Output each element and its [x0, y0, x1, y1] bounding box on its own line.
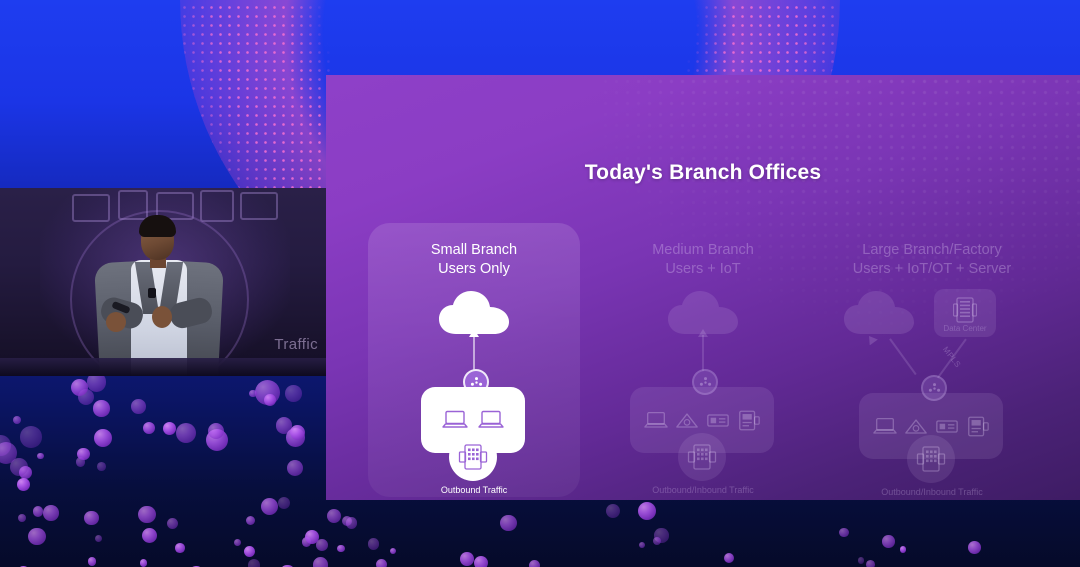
bubble: [33, 506, 44, 517]
laptop-icon: [644, 411, 668, 430]
bubble: [167, 518, 178, 529]
bubble: [97, 462, 106, 471]
uplink-line: [702, 335, 704, 371]
bubble: [900, 546, 906, 552]
bubble: [500, 515, 516, 531]
bubble: [653, 537, 662, 546]
bubble: [639, 542, 645, 548]
cloud-icon: [844, 291, 914, 335]
bubble: [287, 460, 303, 476]
bubble: [261, 498, 278, 515]
screen: Traffic Today's Branch Offices Small Bra…: [0, 0, 1080, 567]
bubble: [278, 497, 290, 509]
bubble: [28, 528, 45, 545]
branch-column-medium[interactable]: Medium Branch Users + IoT: [597, 223, 809, 497]
column-title-text: Small Branch: [431, 242, 517, 258]
bubble: [175, 543, 184, 552]
bubble: [140, 559, 148, 567]
uplink-arrow-icon: [697, 329, 709, 339]
bubble: [43, 505, 59, 521]
bubble: [264, 394, 276, 406]
bubble: [346, 517, 358, 529]
speaker-hand-left: [106, 312, 126, 332]
bubble: [37, 453, 44, 460]
bubble: [95, 535, 102, 542]
kiosk-icon: [966, 416, 990, 437]
bubble: [474, 556, 488, 567]
column-subtitle-text: Users Only: [368, 260, 580, 279]
bubble: [208, 423, 224, 439]
presenter-video[interactable]: Traffic: [0, 188, 330, 376]
bubble: [529, 560, 540, 567]
column-subtitle-text: Users + IoT: [597, 260, 809, 279]
bubble: [327, 509, 341, 523]
bubble: [176, 423, 196, 443]
speaker-hair: [139, 215, 176, 237]
camera-icon: [904, 417, 928, 436]
firewall-icon: [449, 433, 497, 481]
uplink-arrow-icon: [468, 329, 480, 339]
server-icon: [953, 297, 977, 323]
data-center-label: Data Center: [934, 324, 996, 333]
laptop-icon: [873, 417, 897, 436]
card-reader-icon: [706, 411, 730, 430]
camera-icon: [675, 411, 699, 430]
bubble: [93, 400, 109, 416]
bubble: [285, 385, 302, 402]
internet-arrow-icon: [866, 335, 878, 345]
data-center-box: Data Center: [934, 289, 996, 337]
card-reader-icon: [935, 417, 959, 436]
slide-title: Today's Branch Offices: [326, 161, 1080, 185]
bubble: [94, 429, 112, 447]
uplink-line: [473, 335, 475, 371]
firewall-icon: [678, 433, 726, 481]
backdrop-icon-5: [240, 192, 278, 220]
bubble: [18, 514, 26, 522]
bubble: [858, 557, 864, 563]
diagram-large: Data Center MPLS: [826, 283, 1038, 497]
stage-floor: [0, 358, 330, 376]
firewall-icon: [907, 435, 955, 483]
bubble: [866, 560, 875, 567]
bubble: [138, 506, 156, 524]
speaker-hand-right: [152, 306, 172, 328]
bubble: [248, 559, 261, 567]
slide-panel: Today's Branch Offices Small Branch User…: [326, 75, 1080, 500]
backdrop-icon-4: [200, 190, 234, 222]
column-title-small: Small Branch Users Only: [368, 241, 580, 279]
bubble: [724, 553, 734, 563]
bubble: [460, 552, 474, 566]
bubble: [13, 416, 21, 424]
bubble: [390, 548, 396, 554]
bubble: [337, 545, 344, 552]
speaker-lapel-mic: [148, 288, 156, 298]
traffic-label: Outbound/Inbound Traffic: [597, 485, 809, 495]
bubble: [839, 528, 849, 538]
column-title-text: Large Branch/Factory: [862, 242, 1001, 258]
bubble: [313, 557, 328, 567]
bubble: [249, 390, 257, 398]
internet-link-line: [889, 339, 916, 376]
bubble: [131, 399, 146, 414]
diagram-medium: [597, 283, 809, 497]
bubble: [305, 530, 319, 544]
branch-column-large[interactable]: Large Branch/Factory Users + IoT/OT + Se…: [826, 223, 1038, 497]
column-title-text: Medium Branch: [652, 242, 754, 258]
laptop-icon: [442, 410, 468, 430]
laptop-icon: [478, 410, 504, 430]
bubble: [20, 426, 42, 448]
bubble: [234, 539, 241, 546]
bubble: [244, 546, 255, 557]
backdrop-text: Traffic: [274, 336, 318, 353]
bubble: [376, 559, 387, 567]
bubble: [17, 478, 30, 491]
branch-column-small[interactable]: Small Branch Users Only: [368, 223, 580, 497]
bubble: [968, 541, 981, 554]
branch-columns: Small Branch Users Only: [326, 223, 1080, 500]
bubble: [88, 557, 97, 566]
bubble: [142, 528, 157, 543]
bubble: [638, 502, 657, 521]
traffic-label: Outbound Traffic: [368, 485, 580, 495]
bubble: [368, 538, 379, 549]
bubble: [246, 516, 255, 525]
kiosk-icon: [737, 410, 761, 431]
bubble: [163, 422, 177, 436]
column-title-large: Large Branch/Factory Users + IoT/OT + Se…: [826, 241, 1038, 279]
column-subtitle-text: Users + IoT/OT + Server: [826, 260, 1038, 279]
bubble: [606, 504, 620, 518]
traffic-label: Outbound/Inbound Traffic: [826, 487, 1038, 497]
bubble: [882, 535, 894, 547]
backdrop-icon-2: [118, 190, 148, 220]
bubble: [77, 448, 89, 460]
bubble: [84, 511, 99, 526]
bubble: [143, 422, 155, 434]
backdrop-icon-1: [72, 194, 110, 222]
column-title-medium: Medium Branch Users + IoT: [597, 241, 809, 279]
diagram-small: [368, 283, 580, 497]
